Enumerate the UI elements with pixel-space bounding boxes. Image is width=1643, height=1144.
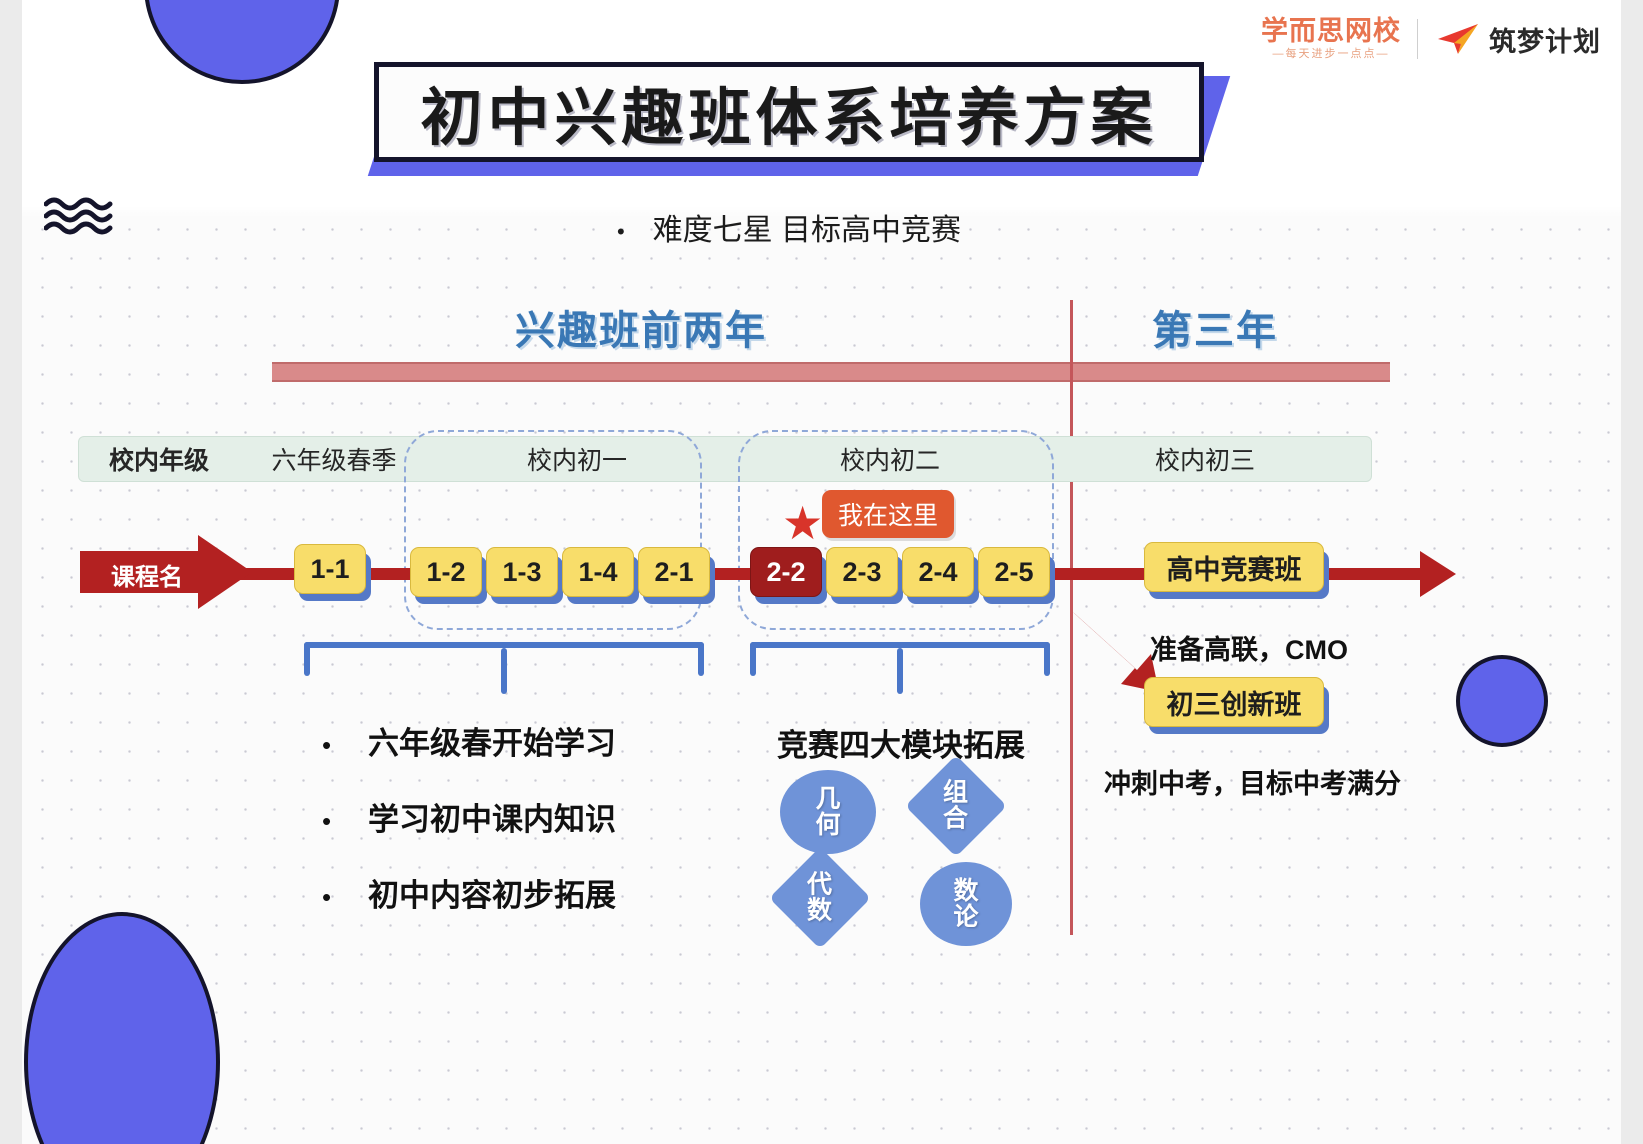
chip-face: 2-1	[638, 547, 710, 597]
paper-plane-icon	[1434, 22, 1480, 56]
right-page-margin	[1621, 0, 1643, 1144]
list-item-label: 学习初中课内知识	[368, 794, 616, 839]
chip-face: 1-4	[562, 547, 634, 597]
bullet-icon: •	[322, 882, 368, 913]
chip-face: 1-3	[486, 547, 558, 597]
decorative-waves-icon	[44, 196, 114, 236]
branch-class-chip[interactable]: 初三创新班	[1144, 678, 1324, 726]
chip-face: 1-1	[294, 544, 366, 594]
grade-cell-3: 校内初三	[1055, 441, 1355, 477]
chip-face: 1-2	[410, 547, 482, 597]
subtitle-bullet-icon: •	[617, 219, 625, 245]
brand-logo-group: 学而思网校 —每天进步一点点— 筑梦计划	[1261, 18, 1601, 60]
course-chip[interactable]: 2-5	[978, 548, 1050, 596]
grade-band: 校内年级 六年级春季 校内初一 校内初二 校内初三	[78, 436, 1372, 482]
bullet-icon: •	[322, 806, 368, 837]
bullet-icon: •	[322, 730, 368, 761]
title-text: 初中兴趣班体系培养方案	[420, 67, 1157, 157]
right-note-bottom: 冲刺中考，目标中考满分	[1104, 762, 1401, 801]
logo-divider	[1417, 19, 1418, 59]
decorative-circle-bottom-left	[24, 912, 220, 1144]
chip-face: 2-5	[978, 547, 1050, 597]
course-chip[interactable]: 1-1	[294, 545, 366, 593]
decorative-circle-right	[1456, 655, 1548, 747]
program-logo: 筑梦计划	[1434, 20, 1601, 59]
advanced-class-chip[interactable]: 高中竞赛班	[1144, 543, 1324, 591]
current-position-badge: 我在这里	[822, 490, 954, 538]
module-label: 数论	[953, 878, 978, 931]
chip-face: 初三创新班	[1144, 677, 1324, 727]
xes-logo-name: 学而思网校	[1261, 18, 1401, 45]
module-shape-number-theory: 数论	[920, 862, 1012, 946]
right-note-top: 准备高联，CMO	[1150, 628, 1348, 667]
left-page-margin	[0, 0, 22, 1144]
course-chip[interactable]: 2-4	[902, 548, 974, 596]
grade-band-header: 校内年级	[79, 441, 239, 477]
course-chip-current[interactable]: 2-2	[750, 548, 822, 596]
program-logo-name: 筑梦计划	[1489, 20, 1601, 59]
subtitle-text: 难度七星 目标高中竞赛	[653, 214, 961, 247]
list-item: • 学习初中课内知识	[322, 794, 616, 839]
module-label: 组合	[943, 780, 968, 833]
course-name-arrow-label: 课程名	[92, 557, 202, 592]
chip-face: 2-4	[902, 547, 974, 597]
list-item: • 六年级春开始学习	[322, 718, 616, 763]
grade-cell-0: 六年级春季	[239, 441, 429, 477]
course-chip[interactable]: 2-1	[638, 548, 710, 596]
module-label: 几何	[815, 786, 840, 839]
decorative-circle-top	[144, 0, 340, 84]
module-shape-algebra: 代数	[769, 847, 871, 949]
course-chip[interactable]: 2-3	[826, 548, 898, 596]
list-item: • 初中内容初步拓展	[322, 870, 616, 915]
module-label: 代数	[807, 872, 832, 925]
course-chip[interactable]: 1-2	[410, 548, 482, 596]
course-name-arrow: 课程名	[80, 535, 252, 609]
list-item-label: 六年级春开始学习	[368, 718, 616, 763]
title-face: 初中兴趣班体系培养方案	[374, 62, 1204, 162]
course-name-arrow-tip-icon	[198, 535, 252, 609]
xes-logo-tagline: —每天进步一点点—	[1273, 49, 1390, 60]
timeline-arrow-head-icon	[1420, 551, 1456, 597]
course-chip[interactable]: 1-4	[562, 548, 634, 596]
modules-title: 竞赛四大模块拓展	[777, 720, 1025, 765]
left-notes-list: • 六年级春开始学习 • 学习初中课内知识 • 初中内容初步拓展	[322, 718, 616, 946]
slide-canvas: 学而思网校 —每天进步一点点— 筑梦计划 初中兴趣班体系培养方案 •难度七星 目…	[22, 0, 1621, 1144]
module-shape-combinatorics: 组合	[905, 755, 1007, 857]
module-shape-geometry: 几何	[780, 770, 876, 854]
list-item-label: 初中内容初步拓展	[368, 870, 616, 915]
chip-face: 2-3	[826, 547, 898, 597]
xes-logo: 学而思网校 —每天进步一点点—	[1261, 18, 1401, 60]
page-subtitle: •难度七星 目标高中竞赛	[374, 205, 1204, 249]
phase-label-first: 兴趣班前两年	[515, 298, 767, 356]
page-title: 初中兴趣班体系培养方案	[374, 62, 1204, 162]
chip-face: 2-2	[750, 547, 822, 597]
course-chip[interactable]: 1-3	[486, 548, 558, 596]
chip-face: 高中竞赛班	[1144, 542, 1324, 592]
phase-red-bar	[272, 362, 1390, 382]
phase-label-second: 第三年	[1152, 298, 1278, 356]
